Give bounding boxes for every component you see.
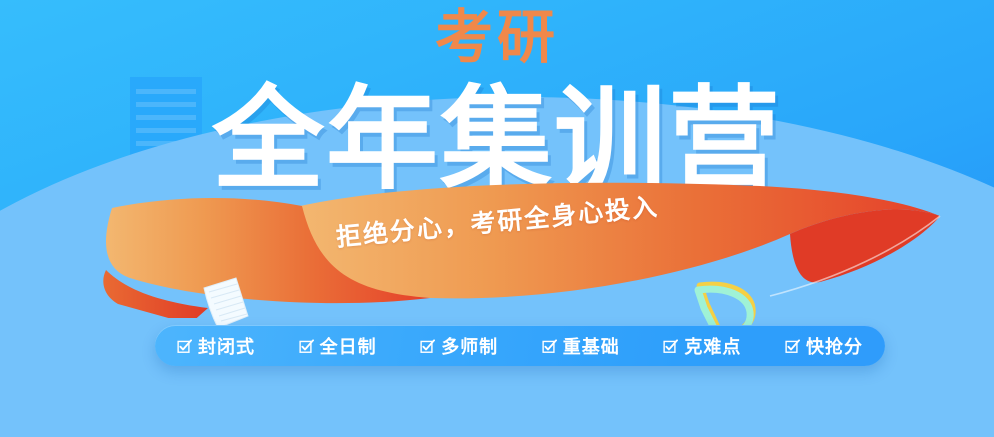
feature-pill-bar: 封闭式 全日制 多师制 (155, 325, 885, 366)
feature-label: 多师制 (441, 333, 498, 359)
checkbox-checked-icon (420, 338, 435, 353)
feature-item-2[interactable]: 多师制 (420, 333, 498, 359)
checkbox-checked-icon (177, 338, 192, 353)
checkbox-checked-icon (663, 338, 678, 353)
feature-label: 全日制 (320, 333, 377, 359)
checkbox-checked-icon (542, 338, 557, 353)
feature-item-4[interactable]: 克难点 (663, 333, 741, 359)
feature-item-1[interactable]: 全日制 (299, 333, 377, 359)
checkbox-checked-icon (299, 338, 314, 353)
feature-label: 快抢分 (806, 333, 863, 359)
checkbox-checked-icon (785, 338, 800, 353)
feature-label: 重基础 (563, 333, 620, 359)
ribbon-banner (0, 178, 994, 318)
feature-item-5[interactable]: 快抢分 (785, 333, 863, 359)
promo-banner: 考研 全年集训营 (0, 0, 994, 437)
feature-label: 克难点 (684, 333, 741, 359)
feature-item-0[interactable]: 封闭式 (177, 333, 255, 359)
eyebrow-title: 考研 (0, 8, 994, 66)
feature-item-3[interactable]: 重基础 (542, 333, 620, 359)
feature-label: 封闭式 (198, 333, 255, 359)
